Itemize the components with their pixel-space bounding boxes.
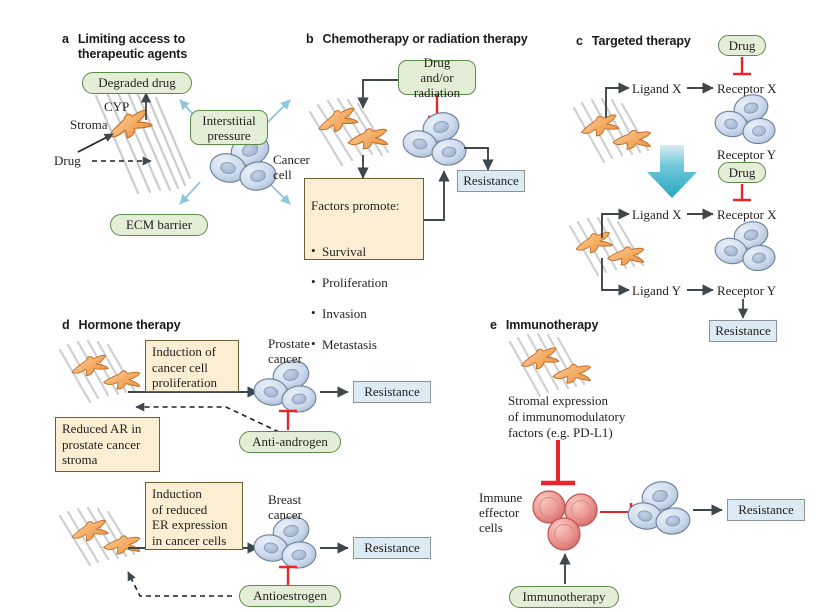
panel-e-letter: e <box>490 318 497 332</box>
receptor-x-label-top: Receptor X <box>717 81 777 96</box>
drug-radiation-box[interactable]: Drug and/or radiation <box>398 60 476 95</box>
panel-e-title-text: Immunotherapy <box>506 318 598 332</box>
interstitial-pressure-label[interactable]: Interstitial pressure <box>190 110 268 145</box>
panel-a-letter: a <box>62 32 69 46</box>
induction-er-box: Induction of reduced ER expression in ca… <box>145 482 243 550</box>
figure-canvas: aLimiting access to therapeutic agents D… <box>0 0 825 612</box>
immune-effector-cells <box>533 491 597 550</box>
cancer-cell-cluster-e <box>626 478 692 536</box>
panel-a-title-text: Limiting access to therapeutic agents <box>78 32 187 62</box>
degraded-drug-label[interactable]: Degraded drug <box>82 72 192 94</box>
resistance-box-b[interactable]: Resistance <box>457 170 525 192</box>
ecm-barrier-label[interactable]: ECM barrier <box>110 214 208 236</box>
immune-effector-cells-label: Immune effector cells <box>479 490 522 535</box>
antioestrogen-capsule[interactable]: Antioestrogen <box>239 585 341 607</box>
panel-e-title: eImmunotherapy <box>490 318 598 333</box>
prostate-cancer-label: Prostate cancer <box>268 336 310 366</box>
receptor-y-label-top: Receptor Y <box>717 147 776 162</box>
resistance-box-c[interactable]: Resistance <box>709 320 777 342</box>
panel-c-title: cTargeted therapy <box>576 34 691 49</box>
drug-label-a: Drug <box>54 153 81 168</box>
panel-d-letter: d <box>62 318 70 332</box>
receptor-x-label-bottom: Receptor X <box>717 207 777 222</box>
panel-a-title: aLimiting access to therapeutic agents <box>62 32 187 62</box>
ligand-x-label-bottom: Ligand X <box>632 207 681 222</box>
cancer-cell-cluster-b <box>401 109 468 167</box>
drug-capsule-c-bottom[interactable]: Drug <box>718 162 766 183</box>
panel-c-title-text: Targeted therapy <box>592 34 691 48</box>
breast-cancer-label: Breast cancer <box>268 492 302 522</box>
panel-b-letter: b <box>306 32 314 46</box>
resistance-box-d-prostate[interactable]: Resistance <box>353 381 431 403</box>
reduced-ar-box: Reduced AR in prostate cancer stroma <box>55 417 160 472</box>
factor-item: Survival <box>311 244 417 260</box>
drug-capsule-c-top[interactable]: Drug <box>718 35 766 56</box>
transition-arrow <box>647 145 697 198</box>
factor-item: Proliferation <box>311 275 417 291</box>
factors-promote-box: Factors promote: Survival Proliferation … <box>304 178 424 260</box>
cancer-cell-cluster-c-top <box>713 91 777 145</box>
panel-b-title-text: Chemotherapy or radiation therapy <box>323 32 528 46</box>
factor-item: Invasion <box>311 306 417 322</box>
cyp-label: CYP <box>104 99 129 114</box>
immunotherapy-capsule[interactable]: Immunotherapy <box>509 586 619 608</box>
induction-proliferation-box: Induction of cancer cell proliferation <box>145 340 239 392</box>
factors-heading: Factors promote: <box>311 198 417 214</box>
stromal-expression-label: Stromal expression of immunomodulatory f… <box>508 393 625 441</box>
panel-c-letter: c <box>576 34 583 48</box>
anti-androgen-capsule[interactable]: Anti-androgen <box>239 431 341 453</box>
panel-b-title: bChemotherapy or radiation therapy <box>306 32 528 47</box>
panel-d-title-text: Hormone therapy <box>79 318 181 332</box>
ligand-y-label: Ligand Y <box>632 283 681 298</box>
resistance-box-e[interactable]: Resistance <box>727 499 805 521</box>
resistance-box-d-breast[interactable]: Resistance <box>353 537 431 559</box>
ligand-x-label-top: Ligand X <box>632 81 681 96</box>
receptor-y-label-bottom: Receptor Y <box>717 283 776 298</box>
stroma-label: Stroma <box>70 117 108 132</box>
factors-list: Survival Proliferation Invasion Metastas… <box>311 229 417 369</box>
panel-d-title: dHormone therapy <box>62 318 181 333</box>
panel-e-graphics <box>510 334 722 584</box>
factor-item: Metastasis <box>311 337 417 353</box>
cancer-cell-cluster-c-bottom <box>713 218 777 272</box>
